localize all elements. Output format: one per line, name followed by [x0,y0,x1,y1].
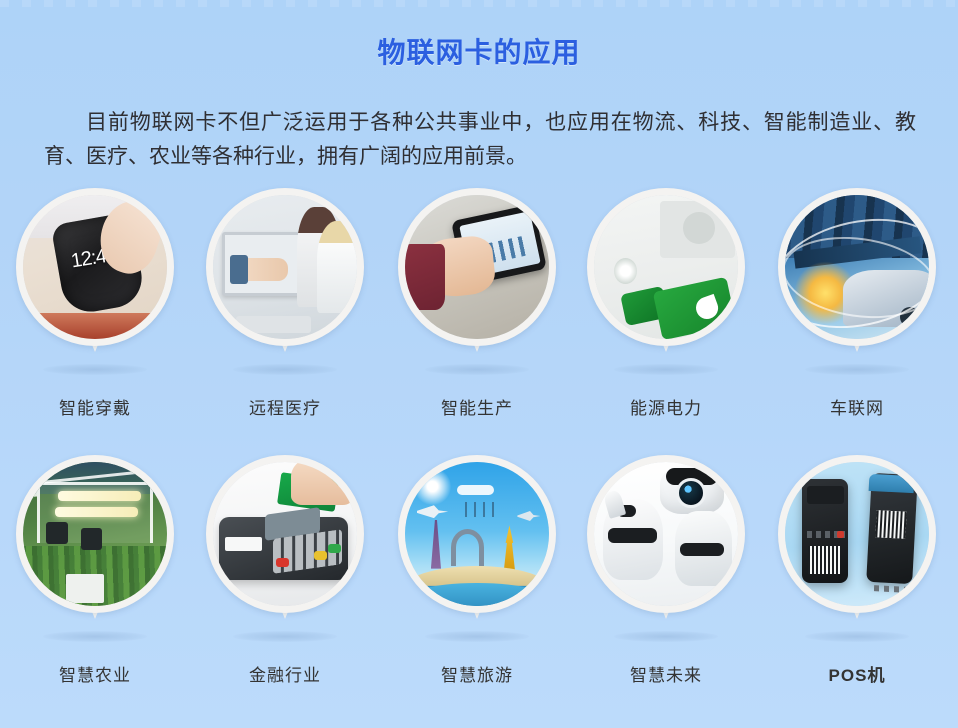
application-label: POS机 [762,661,952,686]
pin-shadow [805,631,909,642]
application-item-connected-vehicle[interactable]: 车联网 [762,188,952,428]
smart-future-photo [594,462,738,606]
pin-shadow [43,631,147,642]
application-item-energy-power[interactable]: 能源电力 [571,188,761,428]
application-item-smart-wearable[interactable]: 12:42 智能穿戴 [0,188,190,428]
pin-marker [206,455,364,613]
pin-shadow [43,364,147,375]
page-title: 物联网卡的应用 [0,31,958,71]
smart-production-photo [405,195,549,339]
application-label: 智慧农业 [0,661,190,686]
energy-power-photo [594,195,738,339]
pin-marker [778,188,936,346]
pin-marker [398,455,556,613]
pin-marker [16,455,174,613]
application-row-2: 智慧农业 金融行业 [0,455,958,695]
intro-paragraph: 目前物联网卡不但广泛运用于各种公共事业中，也应用在物流、科技、智能制造业、教育、… [44,105,916,173]
telemedicine-photo [213,195,357,339]
pin-marker [206,188,364,346]
pin-marker: 12:42 [16,188,174,346]
pin-marker [398,188,556,346]
pin-marker [778,455,936,613]
smart-wearable-photo: 12:42 [23,195,167,339]
application-label: 金融行业 [190,661,380,686]
application-item-smart-agriculture[interactable]: 智慧农业 [0,455,190,695]
application-item-smart-tourism[interactable]: 智慧旅游 [382,455,572,695]
top-edge-bleed [0,0,958,7]
pin-shadow [614,631,718,642]
pin-shadow [614,364,718,375]
pin-marker [587,455,745,613]
pos-machine-photo [785,462,929,606]
pin-shadow [425,364,529,375]
iot-card-application-section: 物联网卡的应用 目前物联网卡不但广泛运用于各种公共事业中，也应用在物流、科技、智… [0,0,958,728]
application-label: 智慧旅游 [382,661,572,686]
smart-agriculture-photo [23,462,167,606]
smart-tourism-photo [405,462,549,606]
application-label: 能源电力 [571,394,761,419]
connected-vehicle-photo [785,195,929,339]
application-item-pos-machine[interactable]: POS机 [762,455,952,695]
application-item-smart-future[interactable]: 智慧未来 [571,455,761,695]
pin-shadow [425,631,529,642]
application-row-1: 12:42 智能穿戴 远程医疗 [0,188,958,428]
pin-marker [587,188,745,346]
application-item-telemedicine[interactable]: 远程医疗 [190,188,380,428]
application-label: 智能生产 [382,394,572,419]
application-item-finance-industry[interactable]: 金融行业 [190,455,380,695]
application-label: 远程医疗 [190,394,380,419]
pin-shadow [233,364,337,375]
pin-shadow [805,364,909,375]
application-label: 车联网 [762,394,952,419]
finance-industry-photo [213,462,357,606]
application-item-smart-production[interactable]: 智能生产 [382,188,572,428]
pin-shadow [233,631,337,642]
application-label: 智能穿戴 [0,394,190,419]
application-label: 智慧未来 [571,661,761,686]
